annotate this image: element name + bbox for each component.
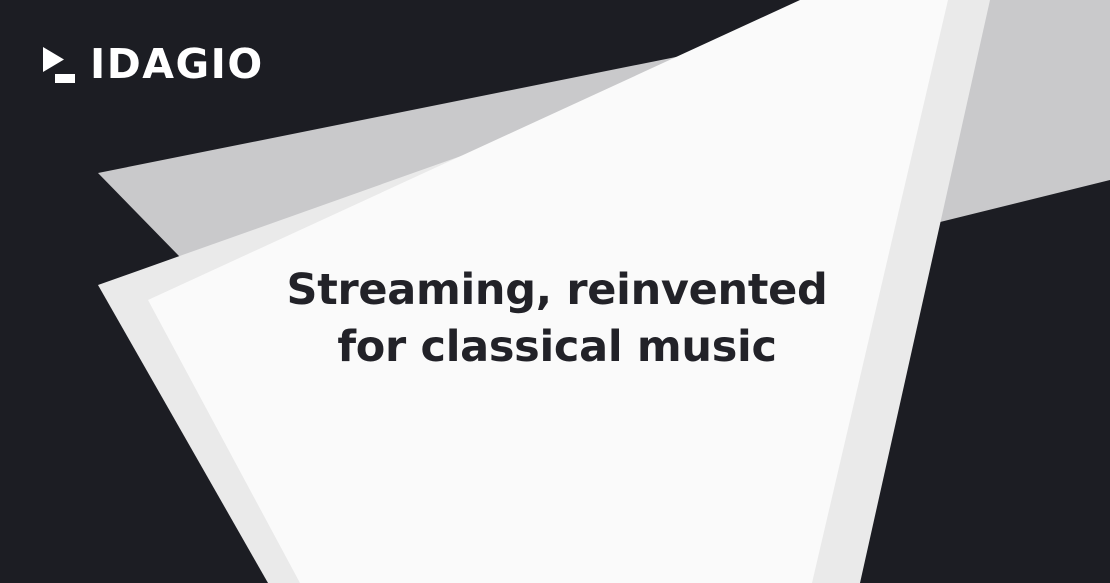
headline-line-2: for classical music	[0, 319, 1110, 376]
idagio-wordmark: IDAGIO	[90, 44, 264, 85]
idagio-logo[interactable]: IDAGIO	[42, 44, 264, 85]
play-triangle-icon	[42, 46, 76, 84]
idagio-promo-banner: IDAGIO Streaming, reinvented for classic…	[0, 0, 1110, 583]
logo-bar-glyph	[55, 74, 75, 83]
headline-line-1: Streaming, reinvented	[0, 262, 1110, 319]
play-triangle-glyph	[43, 47, 64, 72]
headline: Streaming, reinvented for classical musi…	[0, 262, 1110, 376]
